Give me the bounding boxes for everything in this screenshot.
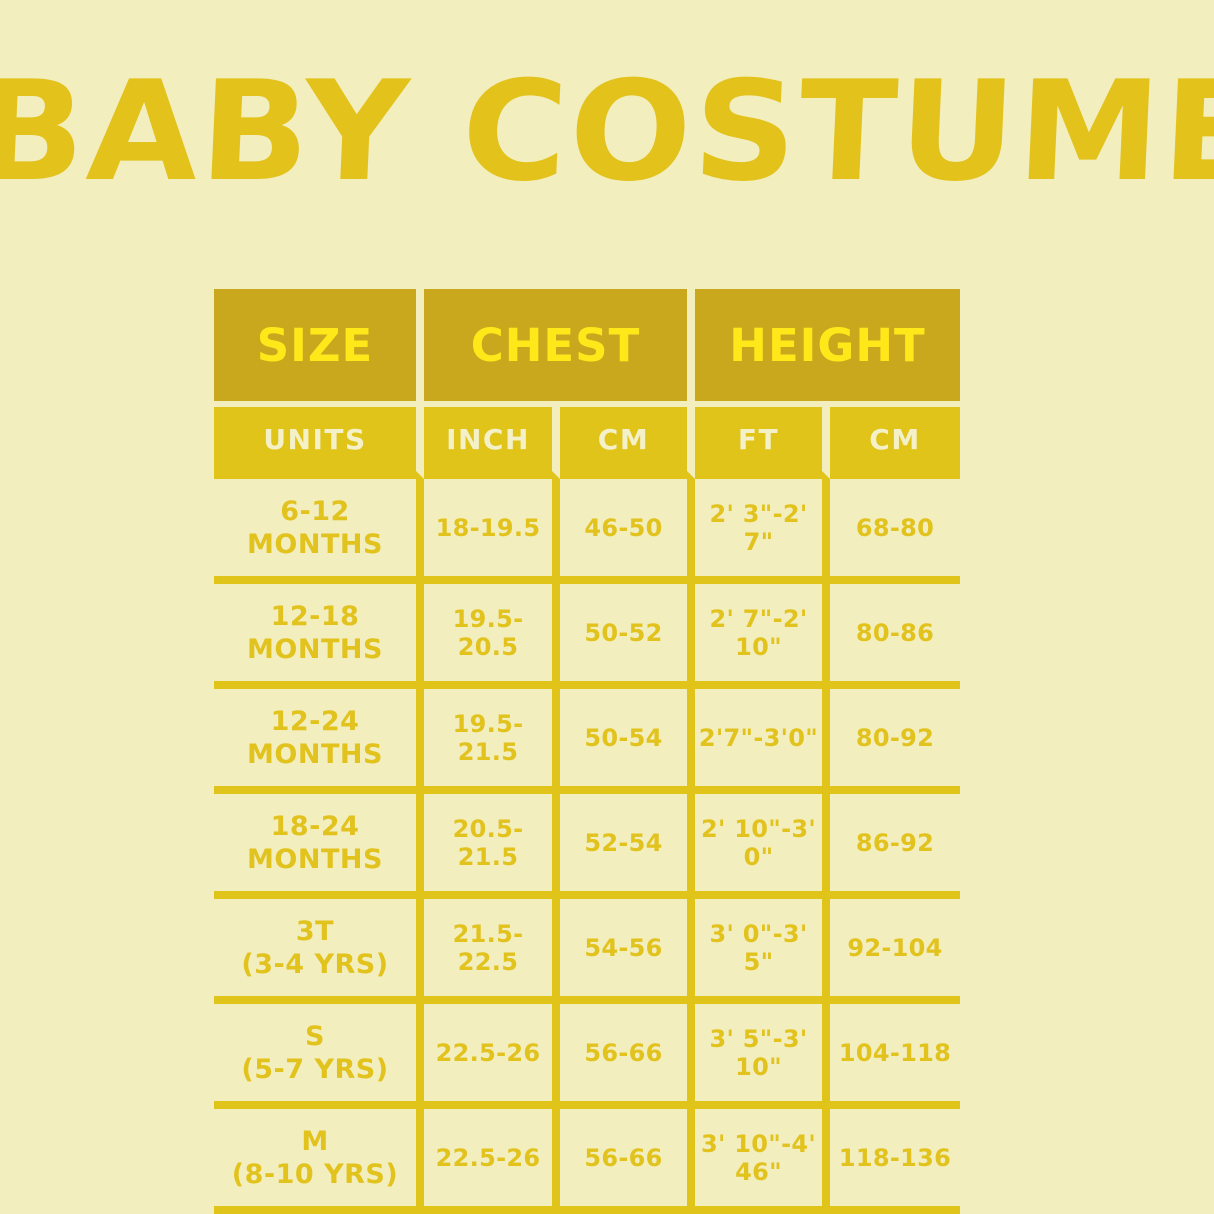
cell-chest-cm: 50-54	[560, 689, 695, 794]
table-row: 18-24 MONTHS 20.5-21.5 52-54 2' 10"-3' 0…	[214, 794, 960, 899]
cell-size: 12-18 MONTHS	[214, 584, 424, 689]
sub-header-height-ft: FT	[695, 407, 830, 479]
cell-chest-inch: 21.5-22.5	[424, 899, 560, 1004]
size-line-2: (8-10 YRS)	[216, 1158, 414, 1191]
sub-header-chest-cm: CM	[560, 407, 695, 479]
cell-chest-cm: 54-56	[560, 899, 695, 1004]
table-head: SIZE CHEST HEIGHT UNITS INCH CM FT CM	[214, 289, 960, 479]
cell-chest-inch: 22.5-26	[424, 1109, 560, 1214]
table-row: 12-24 MONTHS 19.5-21.5 50-54 2'7"-3'0" 8…	[214, 689, 960, 794]
cell-chest-inch: 18-19.5	[424, 479, 560, 584]
table-body: 6-12 MONTHS 18-19.5 46-50 2' 3"-2' 7" 68…	[214, 479, 960, 1214]
cell-height-ft: 2'7"-3'0"	[695, 689, 830, 794]
cell-height-cm: 104-118	[830, 1004, 960, 1109]
group-header-height: HEIGHT	[695, 289, 960, 407]
cell-height-ft: 2' 7"-2' 10"	[695, 584, 830, 689]
cell-height-ft: 2' 10"-3' 0"	[695, 794, 830, 899]
size-line-2: MONTHS	[216, 633, 414, 666]
cell-chest-cm: 52-54	[560, 794, 695, 899]
cell-size: 12-24 MONTHS	[214, 689, 424, 794]
sub-header-row: UNITS INCH CM FT CM	[214, 407, 960, 479]
size-line-1: 12-18	[216, 600, 414, 633]
cell-chest-cm: 46-50	[560, 479, 695, 584]
cell-height-cm: 80-92	[830, 689, 960, 794]
cell-height-ft: 3' 10"-4' 46"	[695, 1109, 830, 1214]
cell-size: M (8-10 YRS)	[214, 1109, 424, 1214]
cell-height-cm: 118-136	[830, 1109, 960, 1214]
table-row: 12-18 MONTHS 19.5-20.5 50-52 2' 7"-2' 10…	[214, 584, 960, 689]
size-line-2: (3-4 YRS)	[216, 948, 414, 981]
cell-chest-inch: 19.5-20.5	[424, 584, 560, 689]
group-header-chest: CHEST	[424, 289, 695, 407]
cell-size: 3T (3-4 YRS)	[214, 899, 424, 1004]
cell-height-ft: 2' 3"-2' 7"	[695, 479, 830, 584]
cell-chest-cm: 56-66	[560, 1004, 695, 1109]
cell-height-cm: 68-80	[830, 479, 960, 584]
group-header-size: SIZE	[214, 289, 424, 407]
group-header-row: SIZE CHEST HEIGHT	[214, 289, 960, 407]
cell-size: S (5-7 YRS)	[214, 1004, 424, 1109]
page-title: BABY COSTUME	[0, 56, 1214, 208]
cell-chest-inch: 19.5-21.5	[424, 689, 560, 794]
size-line-2: (5-7 YRS)	[216, 1053, 414, 1086]
cell-size: 6-12 MONTHS	[214, 479, 424, 584]
sub-header-chest-inch: INCH	[424, 407, 560, 479]
cell-chest-cm: 56-66	[560, 1109, 695, 1214]
table-row: S (5-7 YRS) 22.5-26 56-66 3' 5"-3' 10" 1…	[214, 1004, 960, 1109]
size-chart-table-wrapper: SIZE CHEST HEIGHT UNITS INCH CM FT CM 6-…	[214, 289, 960, 1214]
size-line-2: MONTHS	[216, 843, 414, 876]
sub-header-units: UNITS	[214, 407, 424, 479]
size-chart-page: BABY COSTUME SIZE CHEST HEIGHT UNITS INC…	[0, 0, 1214, 1214]
size-line-1: 6-12	[216, 495, 414, 528]
table-row: 3T (3-4 YRS) 21.5-22.5 54-56 3' 0"-3' 5"…	[214, 899, 960, 1004]
cell-chest-inch: 20.5-21.5	[424, 794, 560, 899]
cell-height-ft: 3' 0"-3' 5"	[695, 899, 830, 1004]
cell-height-cm: 92-104	[830, 899, 960, 1004]
cell-height-cm: 80-86	[830, 584, 960, 689]
size-line-1: 12-24	[216, 705, 414, 738]
size-line-1: 3T	[216, 915, 414, 948]
cell-size: 18-24 MONTHS	[214, 794, 424, 899]
size-line-1: M	[216, 1125, 414, 1158]
table-row: M (8-10 YRS) 22.5-26 56-66 3' 10"-4' 46"…	[214, 1109, 960, 1214]
table-row: 6-12 MONTHS 18-19.5 46-50 2' 3"-2' 7" 68…	[214, 479, 960, 584]
cell-chest-cm: 50-52	[560, 584, 695, 689]
size-chart-table: SIZE CHEST HEIGHT UNITS INCH CM FT CM 6-…	[214, 289, 960, 1214]
sub-header-height-cm: CM	[830, 407, 960, 479]
size-line-2: MONTHS	[216, 738, 414, 771]
size-line-2: MONTHS	[216, 528, 414, 561]
cell-height-cm: 86-92	[830, 794, 960, 899]
cell-chest-inch: 22.5-26	[424, 1004, 560, 1109]
size-line-1: S	[216, 1020, 414, 1053]
size-line-1: 18-24	[216, 810, 414, 843]
cell-height-ft: 3' 5"-3' 10"	[695, 1004, 830, 1109]
